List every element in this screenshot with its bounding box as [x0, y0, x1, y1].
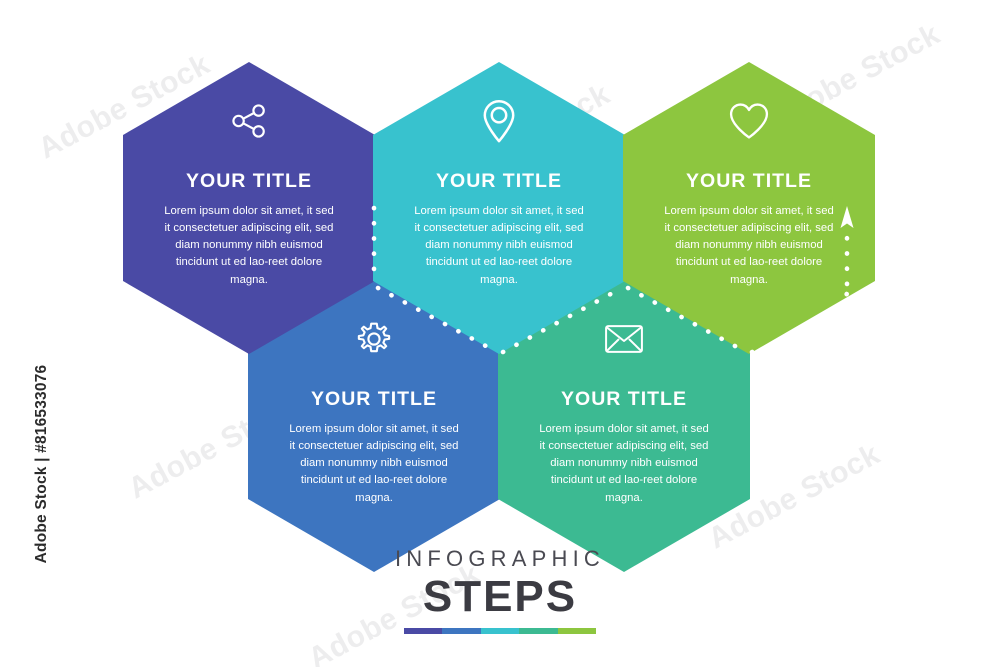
- footer-title-block: INFOGRAPHIC STEPS: [0, 548, 1000, 634]
- infographic-canvas: Adobe Stock Adobe Stock Adobe Stock Adob…: [0, 0, 1000, 667]
- footer-bar-segment: [481, 628, 520, 634]
- adobe-stock-watermark: Adobe Stock | #816533076: [33, 334, 51, 594]
- footer-line-infographic: INFOGRAPHIC: [395, 548, 605, 570]
- location-pin-icon: [476, 98, 522, 144]
- footer-line-steps: STEPS: [423, 575, 577, 619]
- step-title-5: YOUR TITLE: [561, 388, 687, 411]
- step-title-1: YOUR TITLE: [186, 170, 312, 193]
- footer-color-bar: [404, 628, 597, 634]
- step-body-5: Lorem ipsum dolor sit amet, it sed it co…: [538, 421, 710, 507]
- step-title-2: YOUR TITLE: [436, 170, 562, 193]
- heart-icon: [726, 98, 772, 144]
- step-body-1: Lorem ipsum dolor sit amet, it sed it co…: [163, 203, 335, 289]
- footer-bar-segment: [404, 628, 443, 634]
- step-title-3: YOUR TITLE: [686, 170, 812, 193]
- step-body-2: Lorem ipsum dolor sit amet, it sed it co…: [413, 203, 585, 289]
- footer-bar-segment: [442, 628, 481, 634]
- gear-icon: [351, 316, 397, 362]
- footer-bar-segment: [558, 628, 597, 634]
- step-body-3: Lorem ipsum dolor sit amet, it sed it co…: [663, 203, 835, 289]
- envelope-icon: [601, 316, 647, 362]
- step-body-4: Lorem ipsum dolor sit amet, it sed it co…: [288, 421, 460, 507]
- footer-bar-segment: [519, 628, 558, 634]
- step-title-4: YOUR TITLE: [311, 388, 437, 411]
- share-icon: [226, 98, 272, 144]
